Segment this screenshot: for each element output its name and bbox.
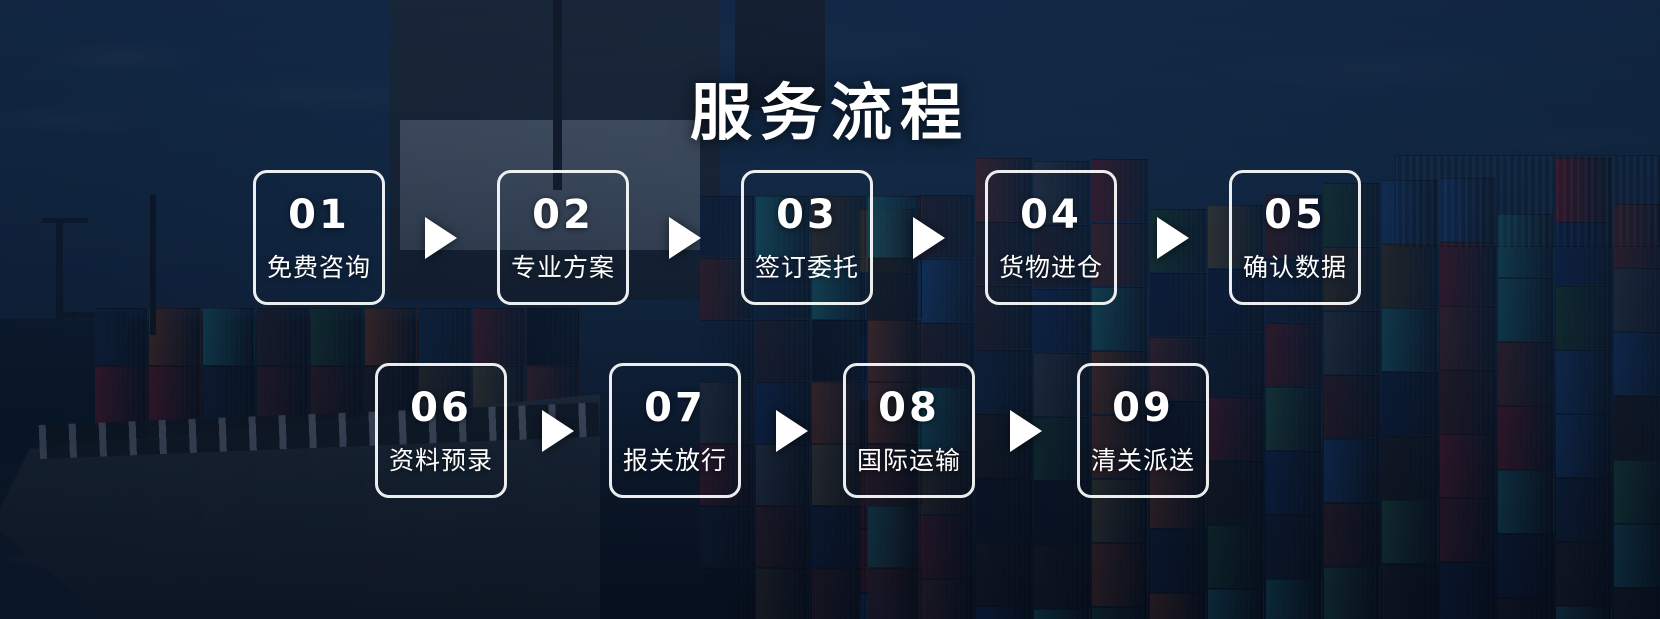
banner-content: 服务流程 01免费咨询02专业方案03签订委托04货物进仓05确认数据 06资料… bbox=[0, 0, 1660, 619]
process-row-one: 01免费咨询02专业方案03签订委托04货物进仓05确认数据 bbox=[253, 170, 1361, 305]
process-row-two: 06资料预录07报关放行08国际运输09清关派送 bbox=[375, 363, 1209, 498]
arrow-right-triangle bbox=[1010, 410, 1042, 452]
process-step-07[interactable]: 07报关放行 bbox=[609, 363, 741, 498]
process-step-08[interactable]: 08国际运输 bbox=[843, 363, 975, 498]
step-label: 货物进仓 bbox=[999, 255, 1103, 280]
process-step-01[interactable]: 01免费咨询 bbox=[253, 170, 385, 305]
step-number: 04 bbox=[1020, 195, 1082, 235]
step-number: 08 bbox=[878, 388, 940, 428]
arrow-right-icon bbox=[629, 217, 741, 259]
arrow-right-triangle bbox=[669, 217, 701, 259]
process-step-05[interactable]: 05确认数据 bbox=[1229, 170, 1361, 305]
step-number: 01 bbox=[288, 195, 350, 235]
step-number: 05 bbox=[1264, 195, 1326, 235]
step-label: 签订委托 bbox=[755, 255, 859, 280]
step-label: 免费咨询 bbox=[267, 255, 371, 280]
arrow-right-icon bbox=[1117, 217, 1229, 259]
step-label: 报关放行 bbox=[623, 448, 727, 473]
process-step-02[interactable]: 02专业方案 bbox=[497, 170, 629, 305]
arrow-right-triangle bbox=[542, 410, 574, 452]
step-number: 03 bbox=[776, 195, 838, 235]
arrow-right-triangle bbox=[913, 217, 945, 259]
arrow-right-icon bbox=[507, 410, 609, 452]
step-number: 02 bbox=[532, 195, 594, 235]
step-label: 专业方案 bbox=[511, 255, 615, 280]
step-number: 06 bbox=[410, 388, 472, 428]
step-label: 资料预录 bbox=[389, 448, 493, 473]
arrow-right-icon bbox=[873, 217, 985, 259]
arrow-right-icon bbox=[741, 410, 843, 452]
step-number: 07 bbox=[644, 388, 706, 428]
arrow-right-triangle bbox=[776, 410, 808, 452]
step-number: 09 bbox=[1112, 388, 1174, 428]
step-label: 确认数据 bbox=[1243, 255, 1347, 280]
process-step-03[interactable]: 03签订委托 bbox=[741, 170, 873, 305]
page-title: 服务流程 bbox=[0, 62, 1660, 152]
service-process-banner: 服务流程 01免费咨询02专业方案03签订委托04货物进仓05确认数据 06资料… bbox=[0, 0, 1660, 619]
arrow-right-triangle bbox=[425, 217, 457, 259]
process-step-09[interactable]: 09清关派送 bbox=[1077, 363, 1209, 498]
arrow-right-icon bbox=[975, 410, 1077, 452]
arrow-right-triangle bbox=[1157, 217, 1189, 259]
arrow-right-icon bbox=[385, 217, 497, 259]
step-label: 清关派送 bbox=[1091, 448, 1195, 473]
process-step-04[interactable]: 04货物进仓 bbox=[985, 170, 1117, 305]
process-step-06[interactable]: 06资料预录 bbox=[375, 363, 507, 498]
step-label: 国际运输 bbox=[857, 448, 961, 473]
